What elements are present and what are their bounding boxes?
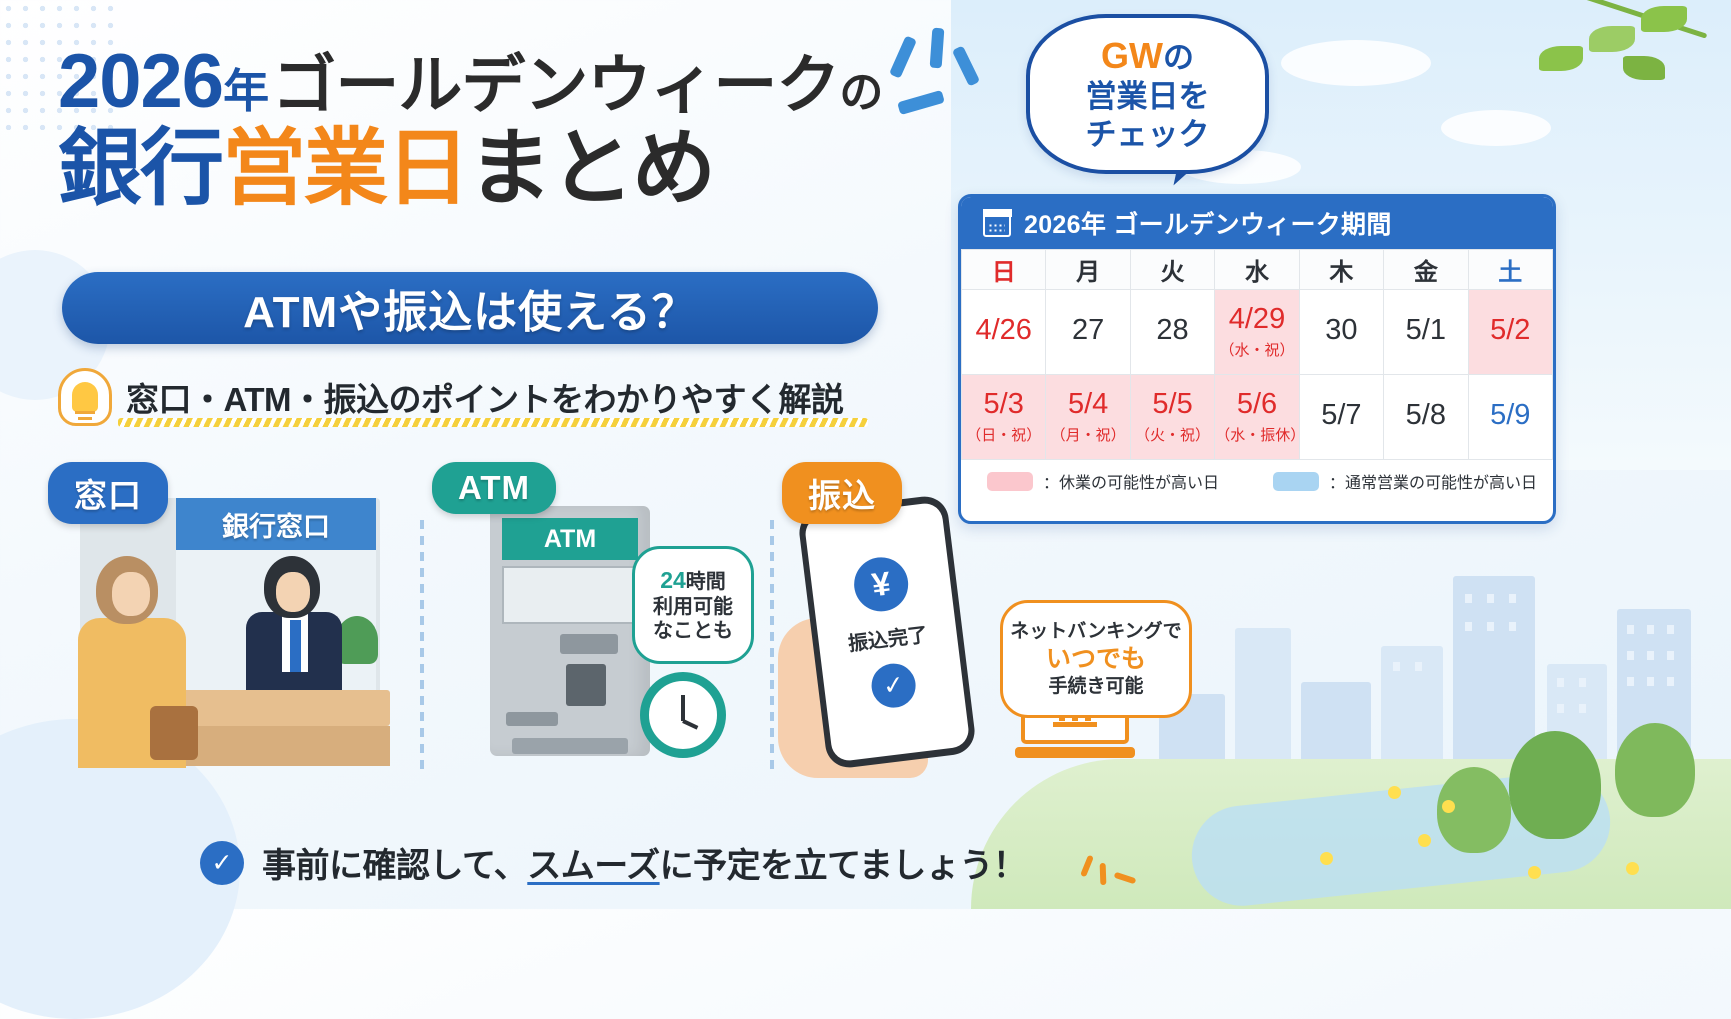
atm-bubble-line3: なことも bbox=[653, 619, 733, 644]
description-underline bbox=[118, 418, 868, 427]
calendar-cell[interactable]: 30 bbox=[1299, 290, 1383, 375]
calendar-cell[interactable]: 27 bbox=[1046, 290, 1130, 375]
weekday-header: 木 bbox=[1299, 250, 1383, 290]
atm-keypad bbox=[566, 664, 606, 706]
teller-sign: 銀行窓口 bbox=[176, 498, 376, 550]
calendar-cell[interactable]: 4/29（水・祝） bbox=[1215, 290, 1299, 375]
calendar-cell[interactable]: 28 bbox=[1130, 290, 1214, 375]
calendar-cell[interactable]: 5/3（日・祝） bbox=[962, 375, 1046, 460]
atm-bubble-line2: 利用可能 bbox=[653, 595, 733, 620]
calendar-cell[interactable]: 5/4（月・祝） bbox=[1046, 375, 1130, 460]
weekday-header: 金 bbox=[1384, 250, 1468, 290]
atm-screen-label: ATM bbox=[502, 518, 638, 560]
gw-calendar-table: 日 月 火 水 木 金 土 4/26 27 28 4/29（水・祝） 30 5/… bbox=[961, 249, 1553, 460]
smartphone: ¥ 振込完了 ✓ bbox=[797, 494, 978, 770]
subtitle-banner: ATMや振込は使える？ bbox=[62, 272, 878, 344]
panel-badge-atm: ATM bbox=[432, 462, 556, 514]
transfer-complete-text: 振込完了 bbox=[846, 618, 929, 657]
plant-icon bbox=[336, 616, 378, 664]
calendar-cell[interactable]: 5/8 bbox=[1384, 375, 1468, 460]
tree-icon bbox=[1509, 731, 1601, 839]
legend-label-closed: ：休業の可能性が高い日 bbox=[1043, 469, 1219, 493]
page-title: 2026年 ゴールデンウィークの 銀行営業日まとめ bbox=[58, 44, 882, 212]
calendar-cell[interactable]: 4/26 bbox=[962, 290, 1046, 375]
check-icon: ✓ bbox=[869, 661, 918, 710]
flower-icon bbox=[1388, 786, 1401, 799]
atm-screen bbox=[502, 566, 638, 624]
phone-screen: ¥ 振込完了 ✓ bbox=[804, 502, 971, 763]
bottom-banner: ✓ 事前に確認して、スムーズに予定を立てましょう！ bbox=[200, 838, 1026, 887]
gw-bubble-line3: チェック bbox=[1086, 117, 1210, 153]
subtitle-text: ATMや振込は使える？ bbox=[243, 276, 697, 340]
atm-hours-unit: 時間 bbox=[686, 571, 726, 593]
panel-divider bbox=[420, 520, 424, 770]
calendar-row: 4/26 27 28 4/29（水・祝） 30 5/1 5/2 bbox=[962, 290, 1553, 375]
legend-label-open: ：通常営業の可能性が高い日 bbox=[1329, 469, 1537, 493]
calendar-cell[interactable]: 5/1 bbox=[1384, 290, 1468, 375]
title-no: の bbox=[839, 68, 882, 117]
weekday-header: 土 bbox=[1468, 250, 1552, 290]
tree-icon bbox=[1615, 723, 1695, 817]
title-eigyobi: 営業日 bbox=[222, 121, 468, 215]
flower-icon bbox=[1320, 852, 1333, 865]
calendar-cell[interactable]: 5/5（火・祝） bbox=[1130, 375, 1214, 460]
description-text: 窓口・ATM・振込のポイントをわかりやすく解説 bbox=[126, 373, 844, 421]
sparkle-icon bbox=[897, 90, 945, 115]
netbanking-line3: 手続き可能 bbox=[1048, 675, 1143, 699]
sparkle-icon bbox=[889, 35, 917, 78]
flower-icon bbox=[1418, 834, 1431, 847]
yen-icon: ¥ bbox=[851, 554, 911, 614]
sparkle-icon bbox=[930, 28, 945, 69]
panel-badge-transfer: 振込 bbox=[782, 462, 902, 524]
calendar-legend: ：休業の可能性が高い日 ：通常営業の可能性が高い日 bbox=[961, 460, 1553, 493]
gw-no: の bbox=[1163, 40, 1194, 75]
netbanking-bubble: ネットバンキングで いつでも 手続き可能 bbox=[1000, 600, 1192, 718]
calendar-row: 5/3（日・祝） 5/4（月・祝） 5/5（火・祝） 5/6（水・振休） 5/7… bbox=[962, 375, 1553, 460]
calendar-title: 2026年 ゴールデンウィーク期間 bbox=[1024, 205, 1392, 241]
weekday-header: 火 bbox=[1130, 250, 1214, 290]
atm-availability-bubble: 24時間 利用可能 なことも bbox=[632, 546, 754, 664]
atm-hours-number: 24 bbox=[660, 567, 686, 593]
cloud-icon bbox=[1281, 40, 1431, 86]
gw-check-bubble: GWの 営業日を チェック bbox=[1026, 14, 1269, 174]
calendar-cell[interactable]: 5/6（水・振休） bbox=[1215, 375, 1299, 460]
panel-badge-teller: 窓口 bbox=[48, 462, 168, 524]
teller-staff-face bbox=[276, 572, 310, 612]
customer-face bbox=[112, 572, 150, 616]
weekday-header: 水 bbox=[1215, 250, 1299, 290]
title-gw: ゴールデンウィーク bbox=[272, 49, 839, 121]
teller-staff-tie bbox=[290, 620, 301, 672]
title-bank: 銀行 bbox=[58, 121, 222, 215]
atm-card-slot bbox=[560, 634, 618, 654]
flower-icon bbox=[1528, 866, 1541, 879]
clock-icon bbox=[640, 672, 726, 758]
calendar-weekday-row: 日 月 火 水 木 金 土 bbox=[962, 250, 1553, 290]
flower-icon bbox=[1442, 800, 1455, 813]
calendar-icon bbox=[983, 210, 1011, 237]
title-year: 2026 bbox=[58, 39, 223, 124]
leaf-branch-icon bbox=[1481, 0, 1711, 170]
lightbulb-icon bbox=[58, 368, 112, 426]
bottom-banner-text: 事前に確認して、スムーズに予定を立てましょう！ bbox=[262, 838, 1026, 887]
infographic-root: 2026年 ゴールデンウィークの 銀行営業日まとめ ATMや振込は使える？ 窓口… bbox=[0, 0, 1731, 909]
gw-bubble-line2: 営業日を bbox=[1086, 79, 1210, 115]
weekday-header: 日 bbox=[962, 250, 1046, 290]
atm-cash-slot bbox=[512, 738, 628, 754]
atm-receipt-slot bbox=[506, 712, 558, 726]
legend-swatch-open bbox=[1273, 472, 1319, 491]
calendar-cell[interactable]: 5/7 bbox=[1299, 375, 1383, 460]
panel-divider bbox=[770, 520, 774, 770]
title-nen: 年 bbox=[223, 65, 268, 117]
netbanking-line1: ネットバンキングで bbox=[1010, 620, 1181, 644]
check-icon: ✓ bbox=[200, 841, 244, 885]
calendar-header: 2026年 ゴールデンウィーク期間 bbox=[961, 197, 1553, 249]
title-matome: まとめ bbox=[468, 121, 714, 215]
netbanking-line2: いつでも bbox=[1046, 644, 1146, 675]
calendar-card: 2026年 ゴールデンウィーク期間 日 月 火 水 木 金 土 4/26 27 … bbox=[958, 194, 1556, 524]
flower-icon bbox=[1626, 862, 1639, 875]
legend-swatch-closed bbox=[987, 472, 1033, 491]
customer-bag-icon bbox=[150, 706, 198, 760]
calendar-cell[interactable]: 5/2 bbox=[1468, 290, 1552, 375]
weekday-header: 月 bbox=[1046, 250, 1130, 290]
gw-label: GW bbox=[1101, 35, 1163, 76]
calendar-cell[interactable]: 5/9 bbox=[1468, 375, 1552, 460]
